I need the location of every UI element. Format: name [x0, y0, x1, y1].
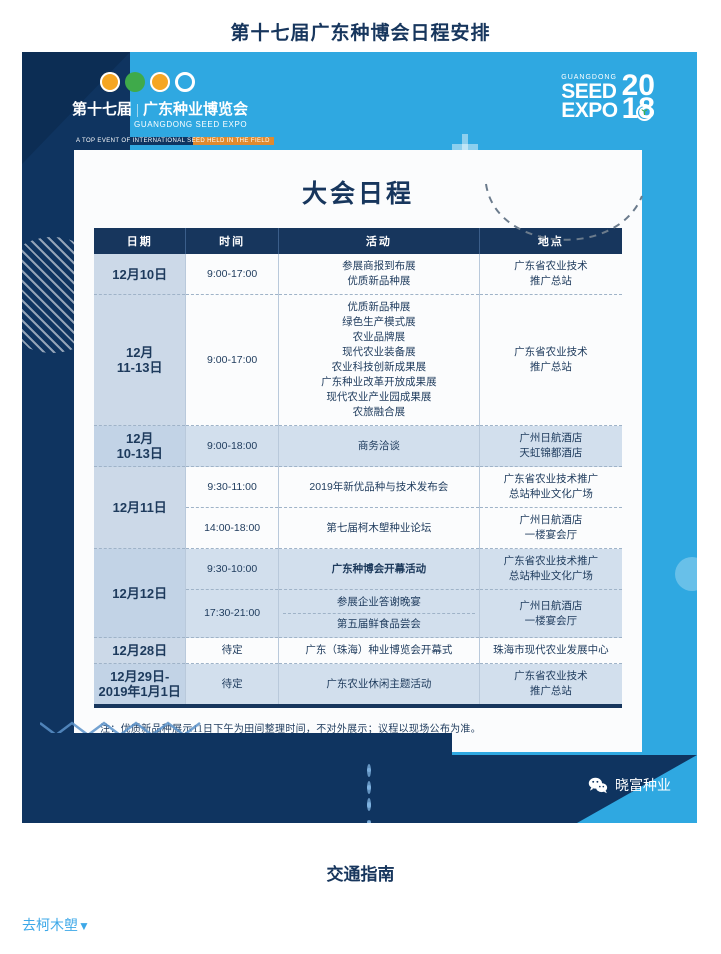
cell-time: 17:30-21:00 [186, 590, 278, 638]
location-line: 总站种业文化广场 [484, 569, 618, 584]
expo-expo-label: EXPO [561, 101, 617, 120]
cell-activity: 参展企业答谢晚宴 第五届鲜食品尝会 [278, 590, 479, 638]
table-row: 12月28日 待定 广东（珠海）种业博览会开幕式 珠海市现代农业发展中心 [94, 638, 622, 664]
activity-line: 第五届鲜食品尝会 [283, 617, 475, 632]
logo-separator: | [136, 102, 139, 118]
date-text: 12月 [98, 345, 181, 360]
location-line: 广州日航酒店 [484, 513, 618, 528]
cell-time: 9:00-18:00 [186, 426, 278, 467]
activity-line: 广东种业改革开放成果展 [283, 375, 475, 390]
column-header-date: 日期 [94, 228, 186, 254]
transport-link-label: 去柯木塱 [22, 917, 78, 933]
column-header-time: 时间 [186, 228, 278, 254]
cell-time: 9:30-11:00 [186, 467, 278, 508]
cell-date: 12月29日- 2019年1月1日 [94, 664, 186, 705]
location-line: 天虹锦都酒店 [484, 446, 618, 461]
activity-line: 参展企业答谢晚宴 [283, 595, 475, 614]
schedule-card: 大会日程 日期 时间 活动 地点 12月10日 9:00-17:00 [74, 150, 642, 752]
date-text: 12月11日 [98, 500, 181, 515]
cell-activity: 第七届柯木塱种业论坛 [278, 508, 479, 549]
table-row: 12月 10-13日 9:00-18:00 商务洽谈 广州日航酒店 天虹锦都酒店 [94, 426, 622, 467]
cell-location: 广州日航酒店 一楼宴会厅 [479, 508, 622, 549]
location-line: 一楼宴会厅 [484, 614, 618, 629]
cell-time: 待定 [186, 638, 278, 664]
cell-location: 广州日航酒店 天虹锦都酒店 [479, 426, 622, 467]
seed-dots-icon [100, 72, 292, 96]
location-line: 推广总站 [484, 360, 618, 375]
cell-time: 9:30-10:00 [186, 549, 278, 590]
cell-time: 9:00-17:00 [186, 254, 278, 295]
wechat-account[interactable]: 晓富种业 [588, 775, 671, 795]
cell-time: 待定 [186, 664, 278, 705]
cell-date: 12月10日 [94, 254, 186, 295]
cell-location: 广州日航酒店 一楼宴会厅 [479, 590, 622, 638]
logo-edition: 第十七届 [72, 102, 132, 118]
dot-field-decoration [367, 760, 385, 815]
schedule-table: 日期 时间 活动 地点 12月10日 9:00-17:00 参展商报到布展 优质… [94, 228, 622, 704]
date-text: 12月12日 [98, 586, 181, 601]
date-text: 12月28日 [98, 643, 181, 658]
location-line: 广东省农业技术推广 [484, 554, 618, 569]
cell-activity: 优质新品种展 绿色生产模式展 农业品牌展 现代农业装备展 农业科技创新成果展 广… [278, 295, 479, 426]
location-line: 推广总站 [484, 684, 618, 699]
cell-location: 广东省农业技术推广 总站种业文化广场 [479, 549, 622, 590]
location-line: 推广总站 [484, 274, 618, 289]
page-title: 第十七届广东种博会日程安排 [0, 18, 721, 45]
dashed-arc-decoration [476, 182, 646, 262]
sprout-icon [636, 104, 653, 121]
activity-line: 现代农业装备展 [283, 345, 475, 360]
date-text: 12月29日- [98, 669, 181, 684]
cell-activity: 2019年新优品种与技术发布会 [278, 467, 479, 508]
logo-english-name: GUANGDONG SEED EXPO [134, 120, 292, 129]
poster-image: 第十七届|广东种业博览会 GUANGDONG SEED EXPO A TOP E… [22, 52, 697, 823]
wechat-account-name: 晓富种业 [615, 775, 671, 795]
cell-time: 9:00-17:00 [186, 295, 278, 426]
table-bottom-rule [94, 704, 622, 708]
cell-location: 广东省农业技术 推广总站 [479, 295, 622, 426]
circle-decoration [675, 557, 697, 591]
cell-activity: 商务洽谈 [278, 426, 479, 467]
location-line: 广东省农业技术 [484, 669, 618, 684]
column-header-activity: 活动 [278, 228, 479, 254]
cell-activity: 广东农业休闲主题活动 [278, 664, 479, 705]
date-text: 10-13日 [98, 446, 181, 461]
cell-date: 12月28日 [94, 638, 186, 664]
section-title-transport: 交通指南 [0, 860, 721, 885]
location-line: 广州日航酒店 [484, 599, 618, 614]
table-row: 12月12日 9:30-10:00 广东种博会开幕活动 广东省农业技术推广 总站… [94, 549, 622, 590]
cell-location: 广东省农业技术推广 总站种业文化广场 [479, 467, 622, 508]
wechat-icon [588, 777, 608, 794]
cell-activity: 广东（珠海）种业博览会开幕式 [278, 638, 479, 664]
cell-date: 12月11日 [94, 467, 186, 549]
location-line: 广东省农业技术推广 [484, 472, 618, 487]
logo-tagline: A TOP EVENT OF INTERNATIONAL SEED HELD I… [72, 137, 274, 145]
activity-line: 优质新品种展 [283, 300, 475, 315]
cell-location: 广东省农业技术 推广总站 [479, 664, 622, 705]
table-row: 12月29日- 2019年1月1日 待定 广东农业休闲主题活动 广东省农业技术 … [94, 664, 622, 705]
location-line: 广东省农业技术 [484, 345, 618, 360]
activity-line: 农旅融合展 [283, 405, 475, 420]
cell-location: 珠海市现代农业发展中心 [479, 638, 622, 664]
expo-year-logo: GUANGDONG SEED EXPO 20 18 [561, 74, 655, 120]
date-text: 2019年1月1日 [98, 684, 181, 699]
cell-time: 14:00-18:00 [186, 508, 278, 549]
cell-activity: 参展商报到布展 优质新品种展 [278, 254, 479, 295]
location-line: 广州日航酒店 [484, 431, 618, 446]
cell-date: 12月12日 [94, 549, 186, 638]
activity-line: 参展商报到布展 [283, 259, 475, 274]
date-text: 12月 [98, 431, 181, 446]
activity-line: 优质新品种展 [283, 274, 475, 289]
activity-line: 绿色生产模式展 [283, 315, 475, 330]
logo-expo-name: 广东种业博览会 [143, 102, 248, 118]
date-text: 12月10日 [112, 267, 167, 282]
chevron-down-icon: ▼ [78, 919, 90, 933]
table-row: 12月11日 9:30-11:00 2019年新优品种与技术发布会 广东省农业技… [94, 467, 622, 508]
cell-activity: 广东种博会开幕活动 [278, 549, 479, 590]
location-line: 总站种业文化广场 [484, 487, 618, 502]
logo-chinese-name: 第十七届|广东种业博览会 [72, 98, 292, 119]
activity-line: 农业品牌展 [283, 330, 475, 345]
cell-date: 12月 11-13日 [94, 295, 186, 426]
activity-line: 现代农业产业园成果展 [283, 390, 475, 405]
seed-expo-logo: 第十七届|广东种业博览会 GUANGDONG SEED EXPO A TOP E… [72, 72, 292, 147]
activity-line: 农业科技创新成果展 [283, 360, 475, 375]
transport-link[interactable]: 去柯木塱▼ [22, 915, 90, 935]
table-row: 12月 11-13日 9:00-17:00 优质新品种展 绿色生产模式展 农业品… [94, 295, 622, 426]
location-line: 一楼宴会厅 [484, 528, 618, 543]
date-text: 11-13日 [98, 360, 181, 375]
cell-date: 12月 10-13日 [94, 426, 186, 467]
